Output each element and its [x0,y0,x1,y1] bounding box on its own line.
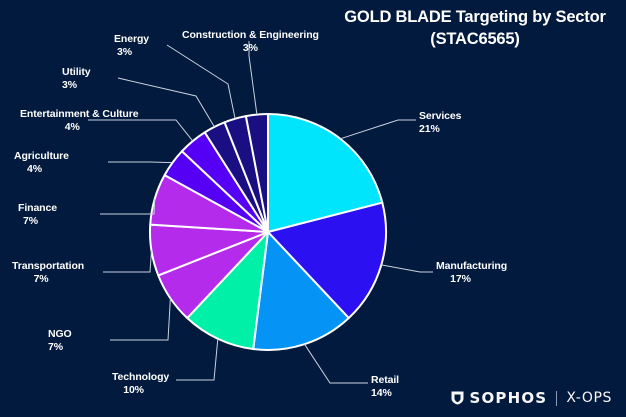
slice-label-finance-name: Finance [18,202,57,214]
chart-canvas: GOLD BLADE Targeting by Sector (STAC6565… [0,0,626,417]
slice-label-energy-pct: 3% [114,46,149,59]
slice-label-technology-name: Technology [112,371,169,383]
page-title: GOLD BLADE Targeting by Sector (STAC6565… [330,6,620,51]
slice-label-retail: Retail 14% [371,374,414,400]
slice-label-construction-pct: 3% [182,42,319,55]
slice-label-utility-name: Utility [62,66,90,78]
slice-label-transportation: Transportation 7% [12,260,84,286]
leader-line-transportation [103,251,152,273]
slice-label-manufacturing-pct: 17% [436,273,507,286]
slice-label-construction: Construction & Engineering 3% [182,29,319,55]
leader-line-energy [167,45,235,119]
xops-wordmark: X-OPS [566,390,612,406]
leader-line-agriculture [108,162,173,163]
slice-label-agriculture-pct: 4% [14,163,69,176]
pie-slice-group [150,114,386,350]
sophos-wordmark: SOPHOS [469,389,547,407]
slice-label-technology: Technology 10% [112,371,169,397]
title-line-1: GOLD BLADE Targeting by Sector [344,8,605,26]
leader-line-technology [176,339,218,380]
pie-chart-svg [0,0,626,417]
slice-label-ngo-name: NGO [48,328,72,340]
slice-label-manufacturing-name: Manufacturing [436,260,507,272]
slice-label-finance: Finance 7% [18,202,57,228]
slice-label-energy-name: Energy [114,33,149,45]
leader-line-finance [100,199,155,214]
slice-label-services: Services 21% [419,110,462,136]
slice-label-retail-name: Retail [371,374,399,386]
leader-line-services [340,120,416,139]
pie-chart [0,0,626,417]
logo-divider [556,391,557,406]
slice-label-manufacturing: Manufacturing 17% [436,260,507,286]
slice-label-ngo-pct: 7% [48,341,77,354]
slice-label-agriculture-name: Agriculture [14,150,69,162]
sophos-xops-logo: SOPHOS X-OPS [451,389,612,407]
slice-label-entertainment: Entertainment & Culture 4% [20,108,138,134]
slice-label-finance-pct: 7% [18,215,57,228]
title-line-2: (STAC6565) [330,28,620,50]
slice-label-ngo: NGO 7% [48,328,77,354]
slice-label-energy: Energy 3% [114,33,149,59]
leader-line-manufacturing [381,265,433,272]
slice-label-transportation-name: Transportation [12,260,84,272]
slice-label-entertainment-name: Entertainment & Culture [20,108,138,120]
slice-label-utility: Utility 3% [62,66,91,92]
slice-label-entertainment-pct: 4% [20,121,138,134]
slice-label-agriculture: Agriculture 4% [14,150,69,176]
slice-label-retail-pct: 14% [371,387,414,400]
slice-label-services-pct: 21% [419,123,462,136]
shield-icon [451,391,464,405]
slice-label-construction-name: Construction & Engineering [182,29,319,41]
slice-label-technology-pct: 10% [112,384,169,397]
slice-label-transportation-pct: 7% [12,273,84,286]
leader-line-ngo [110,298,170,340]
leader-line-retail [305,344,369,383]
slice-label-services-name: Services [419,110,461,122]
slice-label-utility-pct: 3% [62,79,91,92]
